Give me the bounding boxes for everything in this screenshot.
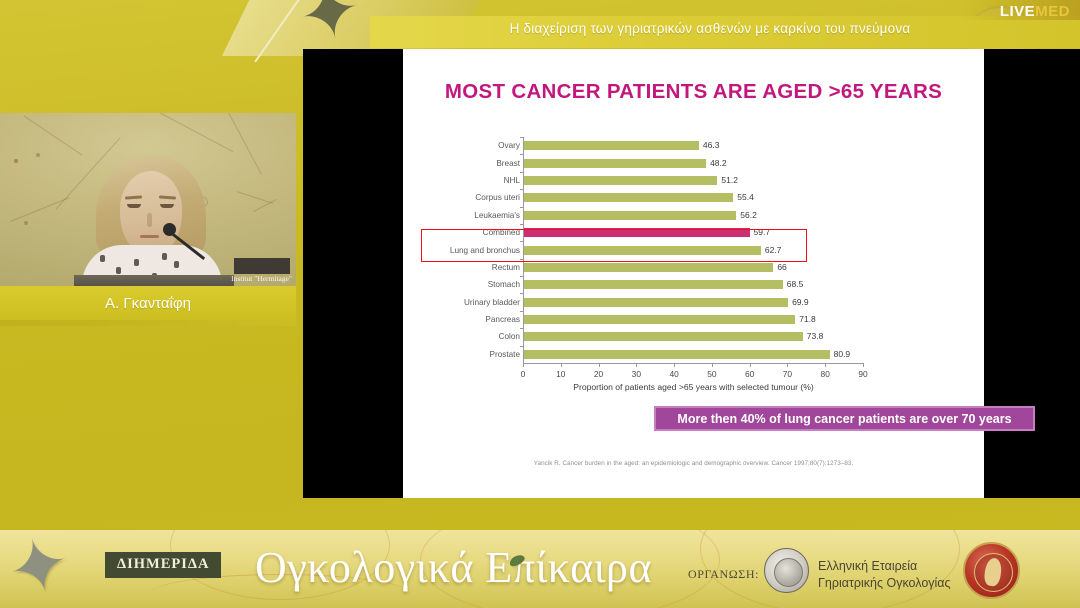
chart-axis-tick xyxy=(520,293,524,294)
chart-category-label: Prostate xyxy=(490,350,521,359)
geriatric-oncology-logo xyxy=(764,548,809,593)
dress-pattern xyxy=(134,259,139,266)
chart-x-tick xyxy=(561,363,562,367)
chart-bar xyxy=(524,159,706,168)
chart-bar-value: 51.2 xyxy=(721,176,738,185)
chart-axis-tick xyxy=(520,189,524,190)
organizer-name-line1: Ελληνική Εταιρεία xyxy=(818,558,951,575)
wall-art-line xyxy=(10,197,70,222)
podium xyxy=(74,275,234,286)
chart-axis-tick xyxy=(520,224,524,225)
page-title: Η διαχείριση των γηριατρικών ασθενών με … xyxy=(380,21,1040,36)
chart-x-tick xyxy=(674,363,675,367)
organizer-name: Ελληνική Εταιρεία Γηριατρικής Ογκολογίας xyxy=(818,558,951,592)
chart-x-tick-label: 50 xyxy=(707,369,716,379)
chart-x-tick xyxy=(636,363,637,367)
chart-bar-value: 56.2 xyxy=(740,211,757,220)
chart-category-labels: OvaryBreastNHLCorpus uteriLeukaemia'sCom… xyxy=(419,137,522,363)
chart-category-label: Colon xyxy=(499,332,520,341)
chart-bar xyxy=(524,263,773,272)
speaker-mouth xyxy=(140,235,159,238)
chart-axis-tick xyxy=(520,311,524,312)
chart-x-axis: 0102030405060708090 xyxy=(523,363,863,364)
wall-art-line xyxy=(237,191,273,204)
chart-x-tick xyxy=(863,363,864,367)
chart-x-axis-label: Proportion of patients aged >65 years wi… xyxy=(419,382,968,392)
chart-x-tick xyxy=(825,363,826,367)
organizer-name-line2: Γηριατρικής Ογκολογίας xyxy=(818,575,951,592)
chart-category-label: Pancreas xyxy=(485,315,520,324)
header-bar: Η διαχείριση των γηριατρικών ασθενών με … xyxy=(0,0,1080,48)
livemed-logo: LIVEMED xyxy=(1000,3,1070,20)
chart-category-label: Lung and bronchus xyxy=(450,246,520,255)
callout-banner: More then 40% of lung cancer patients ar… xyxy=(654,406,1035,431)
dress-pattern xyxy=(100,255,105,262)
chart-x-tick-label: 60 xyxy=(745,369,754,379)
chart-category-label: Breast xyxy=(496,159,520,168)
institution-seal-logo xyxy=(963,542,1020,599)
slide-letterbox: MOST CANCER PATIENTS ARE AGED >65 YEARS … xyxy=(303,49,1080,498)
organizer-label: ΟΡΓΑΝΩΣΗ: xyxy=(688,567,759,582)
chart-category-label: Combined xyxy=(483,228,520,237)
wall-art-dot xyxy=(36,153,40,157)
chart-category-label: NHL xyxy=(504,176,520,185)
chart-axis-tick xyxy=(520,207,524,208)
chart-bar-value: 80.9 xyxy=(834,350,851,359)
chart-bar-value: 69.9 xyxy=(792,298,809,307)
chart-bar xyxy=(524,332,803,341)
venue-caption: Institut "Hermitage" xyxy=(231,274,292,283)
chart-x-tick xyxy=(712,363,713,367)
chart-bar-value: 46.3 xyxy=(703,141,720,150)
event-brand-title: Ογκολογικά Επίκαιρα xyxy=(255,542,652,593)
presentation-slide[interactable]: MOST CANCER PATIENTS ARE AGED >65 YEARS … xyxy=(403,49,984,498)
wall-art-line xyxy=(127,113,233,152)
speaker-name-bar-shadow xyxy=(0,320,296,326)
hare-icon xyxy=(983,557,1003,587)
chart-x-tick xyxy=(750,363,751,367)
speaker-video[interactable]: Institut "Hermitage" xyxy=(0,113,296,286)
wall-art-line xyxy=(24,116,83,156)
podium-side xyxy=(234,258,290,274)
wall-art-dot xyxy=(14,159,18,163)
star-icon: ✦ xyxy=(1,530,76,605)
chart-x-tick-label: 30 xyxy=(632,369,641,379)
chart-x-tick-label: 10 xyxy=(556,369,565,379)
event-type-badge: ΔΙΗΜΕΡΙΔΑ xyxy=(105,552,221,578)
broadcast-stage: ✦ Η διαχείριση των γηριατρικών ασθενών μ… xyxy=(0,0,1080,608)
chart-bar xyxy=(524,176,717,185)
chart-plot-area: 46.348.251.255.456.259.762.76668.569.971… xyxy=(523,137,863,363)
chart-bar xyxy=(524,211,736,220)
speaker-eye xyxy=(127,204,141,208)
logo-backdrop xyxy=(960,0,1080,20)
chart-x-tick-label: 20 xyxy=(594,369,603,379)
chart-bar-value: 68.5 xyxy=(787,280,804,289)
chart-bar xyxy=(524,246,761,255)
chart-bar-value: 66 xyxy=(777,263,786,272)
chart-axis-tick xyxy=(520,154,524,155)
dress-pattern xyxy=(116,267,121,274)
speaker-name-bar: Α. Γκανταΐφη xyxy=(0,286,296,320)
chart-axis-tick xyxy=(520,172,524,173)
chart-x-tick-label: 90 xyxy=(858,369,867,379)
chart-category-label: Urinary bladder xyxy=(464,298,520,307)
chart-bar-value: 48.2 xyxy=(710,159,727,168)
header-band xyxy=(370,16,1080,48)
chart-axis-tick xyxy=(520,276,524,277)
microphone-icon xyxy=(163,223,176,236)
chart-category-label: Stomach xyxy=(488,280,520,289)
dress-pattern xyxy=(174,261,179,268)
chart-bar xyxy=(524,350,830,359)
speaker-nose xyxy=(147,213,152,227)
wall-art-line xyxy=(228,113,262,175)
chart-bar xyxy=(524,141,699,150)
chart-x-tick xyxy=(599,363,600,367)
wall-art-dot xyxy=(24,221,28,225)
chart-category-label: Rectum xyxy=(492,263,520,272)
callout-text: More then 40% of lung cancer patients ar… xyxy=(677,412,1011,426)
video-background: Institut "Hermitage" xyxy=(0,113,296,286)
livemed-logo-med: MED xyxy=(1035,3,1070,20)
chart-x-tick xyxy=(523,363,524,367)
slide-title: MOST CANCER PATIENTS ARE AGED >65 YEARS xyxy=(403,80,984,104)
chart-x-tick-label: 80 xyxy=(821,369,830,379)
chart-bar xyxy=(524,315,795,324)
chart-axis-tick xyxy=(520,241,524,242)
chart-x-tick xyxy=(787,363,788,367)
chart-bar-value: 73.8 xyxy=(807,332,824,341)
chart-bar xyxy=(524,193,733,202)
speaker-eye xyxy=(160,204,174,208)
chart-axis-tick xyxy=(520,346,524,347)
livemed-logo-live: LIVE xyxy=(1000,3,1035,20)
chart-bar-value: 55.4 xyxy=(737,193,754,202)
chart-category-label: Ovary xyxy=(498,141,520,150)
chart-category-label: Corpus uteri xyxy=(475,193,520,202)
bar-chart: OvaryBreastNHLCorpus uteriLeukaemia'sCom… xyxy=(419,137,968,383)
chart-bar xyxy=(524,298,788,307)
chart-axis-tick xyxy=(520,328,524,329)
dress-pattern xyxy=(162,253,167,260)
chart-axis-tick xyxy=(520,137,524,138)
slide-citation: Yancik R. Cancer burden in the aged: an … xyxy=(403,460,984,467)
speaker-name: Α. Γκανταΐφη xyxy=(105,295,191,312)
chart-x-tick-label: 70 xyxy=(783,369,792,379)
chart-x-tick-label: 40 xyxy=(669,369,678,379)
chart-axis-tick xyxy=(520,259,524,260)
chart-bar-value: 59.7 xyxy=(754,228,771,237)
chart-bar xyxy=(524,280,783,289)
chart-bar-value: 71.8 xyxy=(799,315,816,324)
chart-category-label: Leukaemia's xyxy=(474,211,520,220)
chart-x-tick-label: 0 xyxy=(521,369,526,379)
star-icon: ✦ xyxy=(294,0,375,55)
chart-bar-value: 62.7 xyxy=(765,246,782,255)
chart-bar xyxy=(524,228,750,237)
